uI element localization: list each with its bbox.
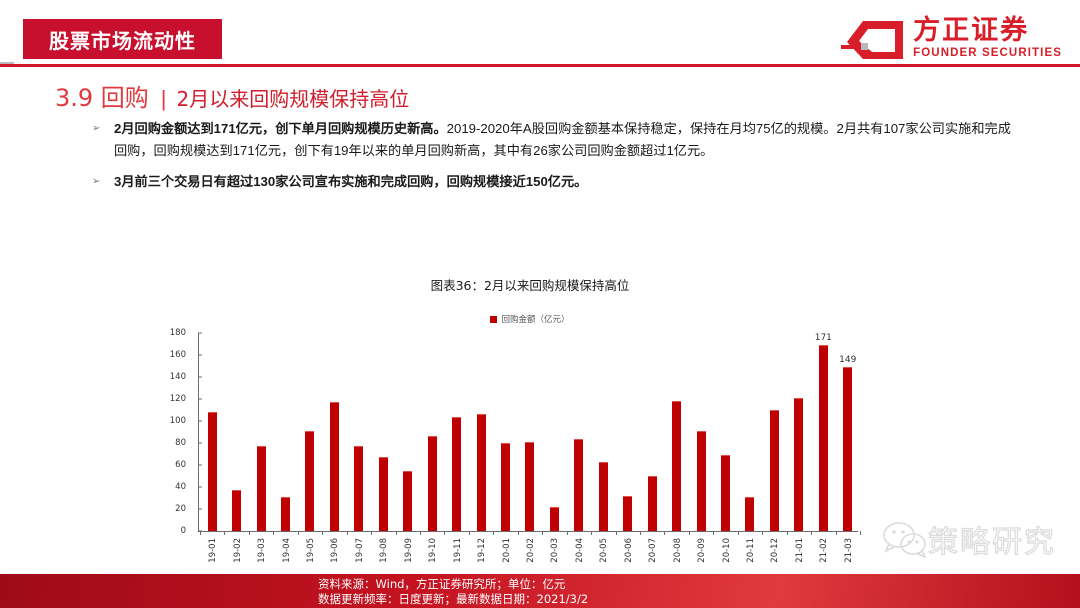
x-axis-tick-mark <box>787 531 788 535</box>
bar <box>428 436 437 531</box>
x-axis-tick-label: 19-12 <box>477 538 487 563</box>
x-axis-tick-label: 20-01 <box>502 538 512 563</box>
x-axis-tick-label: 21-03 <box>844 538 854 563</box>
bar-slot <box>591 333 615 531</box>
bar <box>574 439 583 531</box>
page-title: 3.9 回购 | 2月以来回购规模保持高位 <box>55 78 409 113</box>
y-axis-tick-label: 140 <box>170 372 186 382</box>
bar-slot <box>420 333 444 531</box>
y-axis: 020406080100120140160180 <box>150 333 192 531</box>
bar <box>257 446 266 531</box>
slide-header: 股票市场流动性 方正证券 FOUNDER SECURITIES <box>0 0 1080 72</box>
legend-label: 回购金额（亿元） <box>501 313 569 325</box>
founder-securities-logo-mark-icon <box>841 18 907 62</box>
x-axis-tick-mark <box>493 531 494 535</box>
bar-slot <box>249 333 273 531</box>
chart-title: 图表36：2月以来回购规模保持高位 <box>150 275 910 294</box>
x-axis-tick-mark <box>542 531 543 535</box>
bar-slot <box>713 333 737 531</box>
bar-series: 171149 <box>200 333 860 531</box>
bullet-text-strong: 2月回购金额达到171亿元，创下单月回购规模历史新高。 <box>114 121 447 136</box>
x-axis-tick-label: 19-01 <box>208 538 218 563</box>
bar <box>208 412 217 531</box>
bar <box>477 414 486 531</box>
bar <box>281 497 290 531</box>
bar <box>697 431 706 531</box>
bar <box>354 446 363 531</box>
bar-slot <box>787 333 811 531</box>
bar <box>550 507 559 531</box>
bullet-list: ➢ 2月回购金额达到171亿元，创下单月回购规模历史新高。2019-2020年A… <box>92 118 1012 193</box>
x-axis-tick-label: 20-03 <box>550 538 560 563</box>
x-axis-tick-label: 19-09 <box>404 538 414 563</box>
x-axis-tick-mark <box>420 531 421 535</box>
y-axis-tick-mark <box>198 509 202 510</box>
y-axis-tick-mark <box>198 333 202 334</box>
bullet-text-strong: 3月前三个交易日有超过130家公司宣布实施和完成回购，回购规模接近150亿元。 <box>114 174 587 189</box>
bullet-text: 3月前三个交易日有超过130家公司宣布实施和完成回购，回购规模接近150亿元。 <box>114 171 1012 193</box>
bar-slot <box>444 333 468 531</box>
bar-value-label: 171 <box>815 333 832 343</box>
x-axis-tick-mark <box>322 531 323 535</box>
bar-slot <box>200 333 224 531</box>
bar <box>623 496 632 531</box>
bar <box>843 367 852 531</box>
x-axis-tick-mark <box>249 531 250 535</box>
logo-text: 方正证券 FOUNDER SECURITIES <box>913 16 1062 60</box>
bar-slot <box>542 333 566 531</box>
x-axis-tick-mark <box>444 531 445 535</box>
y-axis-tick-label: 100 <box>170 416 186 426</box>
y-axis-tick-label: 40 <box>175 482 186 492</box>
bar <box>599 462 608 531</box>
x-axis-tick-mark <box>469 531 470 535</box>
section-tag-badge: 股票市场流动性 <box>23 19 222 59</box>
company-logo: 方正证券 FOUNDER SECURITIES <box>841 16 1062 68</box>
bullet-item: ➢ 2月回购金额达到171亿元，创下单月回购规模历史新高。2019-2020年A… <box>92 118 1012 162</box>
x-axis-tick-label: 20-04 <box>575 538 585 563</box>
bar-slot <box>616 333 640 531</box>
bar-slot <box>322 333 346 531</box>
y-axis-tick-mark <box>198 465 202 466</box>
footer-source-block: 资料来源：Wind，方正证券研究所；单位：亿元 数据更新频率：日度更新；最新数据… <box>318 577 588 606</box>
footer-source-line: 资料来源：Wind，方正证券研究所；单位：亿元 <box>318 577 588 592</box>
footer-update-line: 数据更新频率：日度更新；最新数据日期：2021/3/2 <box>318 592 588 607</box>
x-axis-tick-label: 20-10 <box>722 538 732 563</box>
bar-slot <box>396 333 420 531</box>
bar <box>721 455 730 531</box>
x-axis-tick-label: 19-04 <box>282 538 292 563</box>
x-axis-tick-label: 20-09 <box>697 538 707 563</box>
x-axis-tick-mark <box>298 531 299 535</box>
bar-slot <box>664 333 688 531</box>
logo-chinese-name: 方正证券 <box>913 16 1029 45</box>
x-axis-tick-mark <box>224 531 225 535</box>
bar-slot <box>371 333 395 531</box>
bar-slot: 149 <box>836 333 860 531</box>
bar <box>745 497 754 531</box>
x-axis-tick-mark <box>664 531 665 535</box>
x-axis-tick-label: 21-02 <box>819 538 829 563</box>
bullet-item: ➢ 3月前三个交易日有超过130家公司宣布实施和完成回购，回购规模接近150亿元… <box>92 171 1012 193</box>
x-axis-tick-mark <box>567 531 568 535</box>
x-axis-tick-mark <box>836 531 837 535</box>
x-axis-tick-mark <box>518 531 519 535</box>
chart-plot-area: 020406080100120140160180 171149 19-0119-… <box>150 333 910 573</box>
y-axis-tick-label: 20 <box>175 504 186 514</box>
bar <box>672 401 681 531</box>
x-axis-tick-mark <box>640 531 641 535</box>
page-title-number: 3.9 回购 <box>55 78 149 113</box>
x-axis-tick-mark <box>811 531 812 535</box>
chart-container: 图表36：2月以来回购规模保持高位 回购金额（亿元） 0204060801001… <box>150 275 910 575</box>
y-axis-tick-mark <box>198 487 202 488</box>
bar <box>770 410 779 531</box>
bar <box>819 345 828 531</box>
x-axis-tick-label: 20-05 <box>599 538 609 563</box>
y-axis-tick-label: 160 <box>170 350 186 360</box>
y-axis-tick-mark <box>198 421 202 422</box>
bullet-arrow-icon: ➢ <box>92 118 114 140</box>
bar <box>501 443 510 531</box>
x-axis-tick-mark <box>396 531 397 535</box>
bar-slot <box>518 333 542 531</box>
x-axis-tick-label: 19-08 <box>379 538 389 563</box>
section-tag-label: 股票市场流动性 <box>49 25 196 54</box>
x-axis-tick-mark <box>273 531 274 535</box>
watermark-text: 策略研究 <box>928 517 1056 561</box>
y-axis-tick-mark <box>198 399 202 400</box>
y-axis-tick-mark <box>198 443 202 444</box>
x-axis-tick-label: 19-07 <box>355 538 365 563</box>
x-axis-tick-label: 19-05 <box>306 538 316 563</box>
bar <box>232 490 241 531</box>
bar-slot <box>689 333 713 531</box>
x-axis-tick-label: 20-11 <box>746 538 756 563</box>
bar-slot <box>273 333 297 531</box>
y-axis-tick-mark <box>198 377 202 378</box>
x-axis-tick-mark <box>689 531 690 535</box>
bar-slot <box>347 333 371 531</box>
x-axis-tick-label: 20-07 <box>648 538 658 563</box>
bar-slot <box>738 333 762 531</box>
bar <box>305 431 314 531</box>
y-axis-tick-label: 120 <box>170 394 186 404</box>
bar-value-label: 149 <box>839 355 856 365</box>
bar-slot <box>469 333 493 531</box>
x-axis-tick-label: 21-01 <box>795 538 805 563</box>
x-axis-tick-label: 20-08 <box>673 538 683 563</box>
bullet-arrow-icon: ➢ <box>92 171 114 193</box>
x-axis-tick-label: 20-06 <box>624 538 634 563</box>
x-axis-tick-label: 19-02 <box>233 538 243 563</box>
x-axis-tick-label: 19-03 <box>257 538 267 563</box>
bar-slot <box>640 333 664 531</box>
y-axis-tick-label: 80 <box>175 438 186 448</box>
chart-legend: 回购金额（亿元） <box>150 313 910 325</box>
bar-slot <box>224 333 248 531</box>
x-axis-tick-mark <box>713 531 714 535</box>
x-axis-tick-mark <box>762 531 763 535</box>
x-axis-tick-mark <box>200 531 201 535</box>
bar <box>794 398 803 531</box>
watermark: 策略研究 <box>882 508 1072 570</box>
slide-footer: 资料来源：Wind，方正证券研究所；单位：亿元 数据更新频率：日度更新；最新数据… <box>0 574 1080 608</box>
bullet-text: 2月回购金额达到171亿元，创下单月回购规模历史新高。2019-2020年A股回… <box>114 118 1012 162</box>
x-axis-tick-mark <box>591 531 592 535</box>
bar <box>452 417 461 531</box>
x-axis-tick-label: 19-06 <box>330 538 340 563</box>
x-axis-tick-mark <box>738 531 739 535</box>
bar <box>403 471 412 532</box>
bar <box>525 442 534 531</box>
bar-slot <box>298 333 322 531</box>
x-axis-tick-mark <box>616 531 617 535</box>
x-axis-tick-label: 19-11 <box>453 538 463 563</box>
bar-slot <box>493 333 517 531</box>
y-axis-tick-label: 60 <box>175 460 186 470</box>
bar <box>330 402 339 531</box>
x-axis-tick-label: 19-10 <box>428 538 438 563</box>
bar <box>648 476 657 531</box>
x-axis-tick-label: 20-02 <box>526 538 536 563</box>
page-title-subtitle: 2月以来回购规模保持高位 <box>177 83 410 112</box>
bar-slot: 171 <box>811 333 835 531</box>
x-axis-tick-mark <box>371 531 372 535</box>
legend-swatch-icon <box>490 316 497 323</box>
x-axis-tick-mark <box>860 531 861 535</box>
page-title-separator: | <box>161 86 167 112</box>
y-axis-tick-mark <box>198 355 202 356</box>
bar-slot <box>762 333 786 531</box>
x-axis-tick-mark <box>347 531 348 535</box>
bar <box>379 457 388 531</box>
y-axis-tick-label: 0 <box>181 526 186 536</box>
x-axis-tick-label: 20-12 <box>770 538 780 563</box>
bar-slot <box>567 333 591 531</box>
wechat-icon <box>882 519 928 559</box>
y-axis-tick-label: 180 <box>170 328 186 338</box>
logo-english-name: FOUNDER SECURITIES <box>913 46 1062 60</box>
